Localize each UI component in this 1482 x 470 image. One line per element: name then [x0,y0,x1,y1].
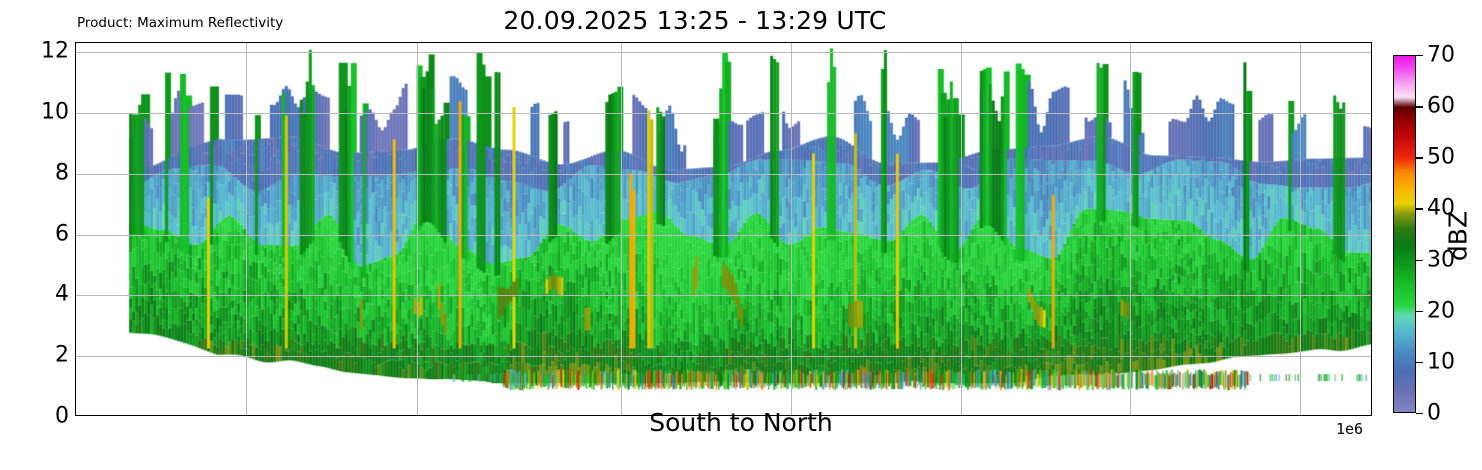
colorbar-tick-label: 60 [1427,94,1455,119]
x-axis-label: South to North [0,408,1482,437]
y-tick [75,295,76,296]
y-tick-label: 6 [23,221,69,246]
colorbar-tick [1416,106,1423,107]
colorbar-gradient [1393,55,1416,413]
colorbar-tick [1416,260,1423,261]
y-tick-label: 8 [23,160,69,185]
colorbar-title: dBZ [1444,211,1473,261]
colorbar-tick [1416,311,1423,312]
x-axis-exponent: 1e6 [1336,420,1363,438]
colorbar-tick-label: 0 [1427,401,1441,426]
y-tick-label: 4 [23,282,69,307]
y-tick-label: 12 [23,39,69,64]
colorbar-tick [1416,413,1423,414]
y-tick [75,356,76,357]
y-tick-label: 2 [23,343,69,368]
colorbar-tick-label: 20 [1427,298,1455,323]
y-tick [75,113,76,114]
y-tick [75,235,76,236]
colorbar-tick [1416,157,1423,158]
colorbar: 010203040506070 [1393,55,1416,413]
plot-area: km AMSL [75,42,1372,416]
y-tick [75,174,76,175]
colorbar-tick [1416,208,1423,209]
page-title: 20.09.2025 13:25 - 13:29 UTC [0,6,1390,35]
colorbar-tick-label: 50 [1427,145,1455,170]
colorbar-tick [1416,362,1423,363]
colorbar-tick-label: 10 [1427,349,1455,374]
reflectivity-field [76,43,1371,415]
y-tick-label: 10 [23,99,69,124]
colorbar-tick-label: 70 [1427,43,1455,68]
radar-cross-section-figure: Product: Maximum Reflectivity 20.09.2025… [0,0,1482,470]
colorbar-tick [1416,55,1423,56]
y-tick [75,52,76,53]
